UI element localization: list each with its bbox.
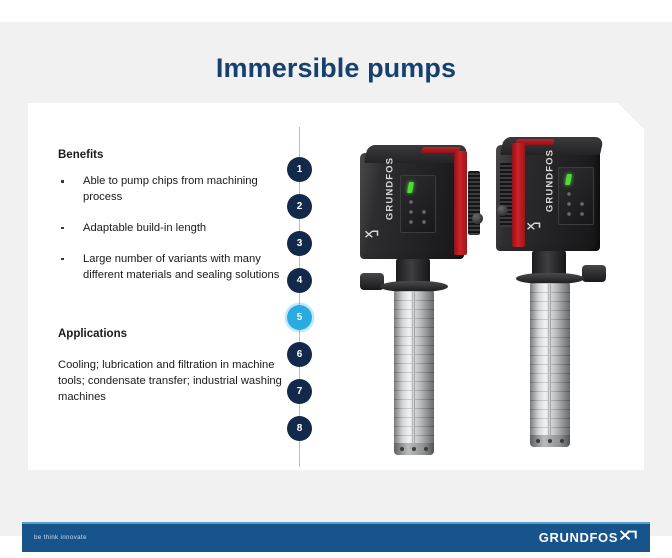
- step-timeline: 1 2 3 4 5 6 7 8: [280, 127, 320, 467]
- list-item-label: Adaptable build-in length: [83, 222, 206, 234]
- motor-red-accent-panel: [512, 143, 525, 247]
- motor-red-accent-panel: [454, 151, 467, 255]
- indicator-dot-icon: [422, 210, 426, 214]
- bullet-dot-icon: [61, 258, 64, 261]
- control-panel: [400, 175, 436, 233]
- control-panel: [558, 167, 594, 225]
- timeline-step-1[interactable]: 1: [287, 157, 312, 182]
- indicator-dot-icon: [422, 220, 426, 224]
- motor-cooling-fins: [500, 163, 512, 227]
- indicator-dot-icon: [409, 200, 413, 204]
- text-column: Benefits Able to pump chips from machini…: [58, 149, 286, 405]
- indicator-dot-icon: [567, 212, 571, 216]
- benefits-heading: Benefits: [58, 149, 286, 161]
- footer-bar: be think innovate GRUNDFOS: [22, 522, 650, 552]
- cable-gland-icon: [497, 205, 508, 216]
- grundfos-logo-icon: [620, 529, 637, 546]
- grundfos-logo-icon: [526, 221, 541, 236]
- page-title: Immersible pumps: [0, 53, 672, 84]
- pump-suction-strainer: [530, 435, 570, 447]
- grundfos-logo-icon: [364, 229, 379, 244]
- indicator-dot-icon: [567, 192, 571, 196]
- strainer-hole-icon: [548, 439, 552, 443]
- content-card: Benefits Able to pump chips from machini…: [28, 103, 644, 470]
- motor-cooling-fins: [468, 171, 480, 235]
- pump-inlet-port: [582, 265, 606, 282]
- pump-neck: [532, 251, 566, 275]
- list-item-label: Large number of variants with many diffe…: [83, 253, 279, 281]
- pump-neck: [396, 259, 430, 283]
- pump-image-left: GRUNDFOS: [352, 145, 484, 475]
- product-image-stage: GRUNDFOS: [328, 123, 638, 463]
- bullet-dot-icon: [61, 227, 64, 230]
- cable-gland-icon: [472, 213, 483, 224]
- timeline-step-7[interactable]: 7: [287, 379, 312, 404]
- strainer-hole-icon: [536, 439, 540, 443]
- timeline-step-8[interactable]: 8: [287, 416, 312, 441]
- indicator-dot-icon: [580, 212, 584, 216]
- list-item: Large number of variants with many diffe…: [58, 252, 286, 284]
- indicator-dot-icon: [567, 202, 571, 206]
- bullet-dot-icon: [61, 180, 64, 183]
- strainer-hole-icon: [412, 447, 416, 451]
- timeline-step-6[interactable]: 6: [287, 342, 312, 367]
- timeline-step-3[interactable]: 3: [287, 231, 312, 256]
- pump-motor-head: GRUNDFOS: [496, 137, 608, 255]
- strainer-hole-icon: [560, 439, 564, 443]
- pump-inner-shaft: [548, 283, 551, 445]
- strainer-hole-icon: [400, 447, 404, 451]
- strainer-hole-icon: [424, 447, 428, 451]
- brand-logo: GRUNDFOS: [539, 529, 637, 546]
- slide-canvas: Immersible pumps Benefits Able to pump c…: [0, 22, 672, 536]
- pump-motor-head: GRUNDFOS: [360, 145, 472, 263]
- footer-tagline: be think innovate: [34, 534, 87, 541]
- status-led-icon: [407, 182, 414, 193]
- indicator-dot-icon: [409, 220, 413, 224]
- applications-heading: Applications: [58, 328, 286, 340]
- status-led-icon: [565, 174, 572, 185]
- timeline-step-4[interactable]: 4: [287, 268, 312, 293]
- list-item: Able to pump chips from machining proces…: [58, 174, 286, 206]
- applications-text: Cooling; lubrication and filtration in m…: [58, 357, 286, 406]
- timeline-step-2[interactable]: 2: [287, 194, 312, 219]
- indicator-dot-icon: [409, 210, 413, 214]
- pump-brand-label: GRUNDFOS: [545, 135, 556, 227]
- pump-suction-strainer: [394, 443, 434, 455]
- list-item-label: Able to pump chips from machining proces…: [83, 175, 258, 203]
- pump-image-right: GRUNDFOS: [488, 137, 620, 467]
- timeline-step-5[interactable]: 5: [287, 305, 312, 330]
- list-item: Adaptable build-in length: [58, 221, 286, 237]
- pump-brand-label: GRUNDFOS: [385, 143, 396, 235]
- pump-inner-shaft: [412, 291, 415, 453]
- benefits-list: Able to pump chips from machining proces…: [58, 174, 286, 284]
- indicator-dot-icon: [580, 202, 584, 206]
- brand-logo-text: GRUNDFOS: [539, 530, 618, 545]
